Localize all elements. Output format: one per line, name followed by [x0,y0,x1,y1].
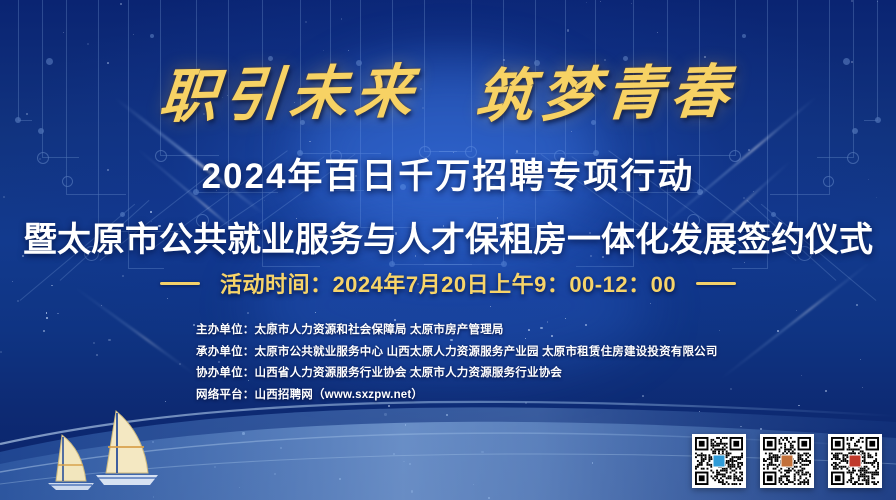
organizer-list: 主办单位：太原市人力资源和社会保障局 太原市房产管理局 承办单位：太原市公共就业… [196,320,836,406]
qr-code-row [692,434,882,488]
decorative-dash-right-icon [696,282,736,285]
brush-title-part-2: 筑梦青春 [472,44,740,133]
event-poster: 职引未来 筑梦青春 2024年百日千万招聘专项行动 暨太原市公共就业服务与人才保… [0,0,896,500]
event-time-text: 活动时间：2024年7月20日上午9：00-12：00 [220,267,676,299]
sub-title: 暨太原市公共就业服务与人才保租房一体化发展签约仪式 [0,212,896,261]
organizer-line-coorganizer: 协办单位：山西省人力资源服务行业协会 太原市人力资源服务行业协会 [196,363,836,385]
organizer-line-organizer: 承办单位：太原市公共就业服务中心 山西太原人力资源服务产业园 太原市租赁住房建设… [196,342,836,364]
brush-calligraphy-title: 职引未来 筑梦青春 [0,50,896,128]
qr-code-3[interactable] [828,434,882,488]
organizer-line-platform: 网络平台：山西招聘网（www.sxzpw.net） [196,385,836,407]
event-time-row: 活动时间：2024年7月20日上午9：00-12：00 [0,267,896,299]
brush-title-part-1: 职引未来 [156,44,424,133]
main-title: 2024年百日千万招聘专项行动 [0,148,896,199]
organizer-line-host: 主办单位：太原市人力资源和社会保障局 太原市房产管理局 [196,320,836,342]
qr-code-2[interactable] [760,434,814,488]
qr-code-1[interactable] [692,434,746,488]
qr-code-1-logo [713,455,726,468]
qr-code-3-logo [849,455,862,468]
qr-code-2-logo [781,455,794,468]
decorative-dash-left-icon [160,282,200,285]
